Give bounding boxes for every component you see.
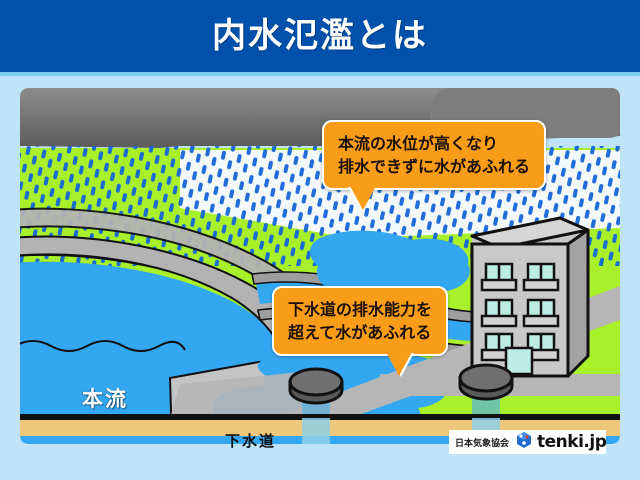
callout-sewer-capacity: 下水道の排水能力を 超えて水があふれる [272, 286, 448, 356]
building-door [506, 348, 532, 374]
apartment-building [472, 218, 588, 376]
logo-brand-name: tenki.jp [537, 432, 606, 452]
header-bar: 内水氾濫とは [0, 0, 640, 72]
header-underline [0, 72, 640, 76]
tenki-logo: 日本気象協会 tenki.jp [449, 430, 606, 454]
logo-association-name: 日本気象協会 [455, 436, 509, 449]
callout-lower-line1: 下水道の排水能力を [288, 298, 432, 321]
tenki-cube-icon [515, 431, 533, 453]
callout-lower-tail [386, 352, 412, 376]
label-sewer: 下水道 [225, 430, 276, 451]
manhole-right [460, 365, 512, 399]
infographic-page: 内水氾濫とは [0, 0, 640, 480]
callout-upper-tail [350, 186, 376, 210]
callout-lower-line2: 超えて水があふれる [288, 321, 432, 344]
callout-main-river-overflow: 本流の水位が高くなり 排水できずに水があふれる [322, 120, 546, 190]
callout-upper-line2: 排水できずに水があふれる [338, 155, 530, 178]
page-title: 内水氾濫とは [0, 0, 640, 72]
manhole-left [290, 369, 342, 403]
sewer-riser-left [302, 418, 330, 444]
callout-upper-line1: 本流の水位が高くなり [338, 132, 530, 155]
